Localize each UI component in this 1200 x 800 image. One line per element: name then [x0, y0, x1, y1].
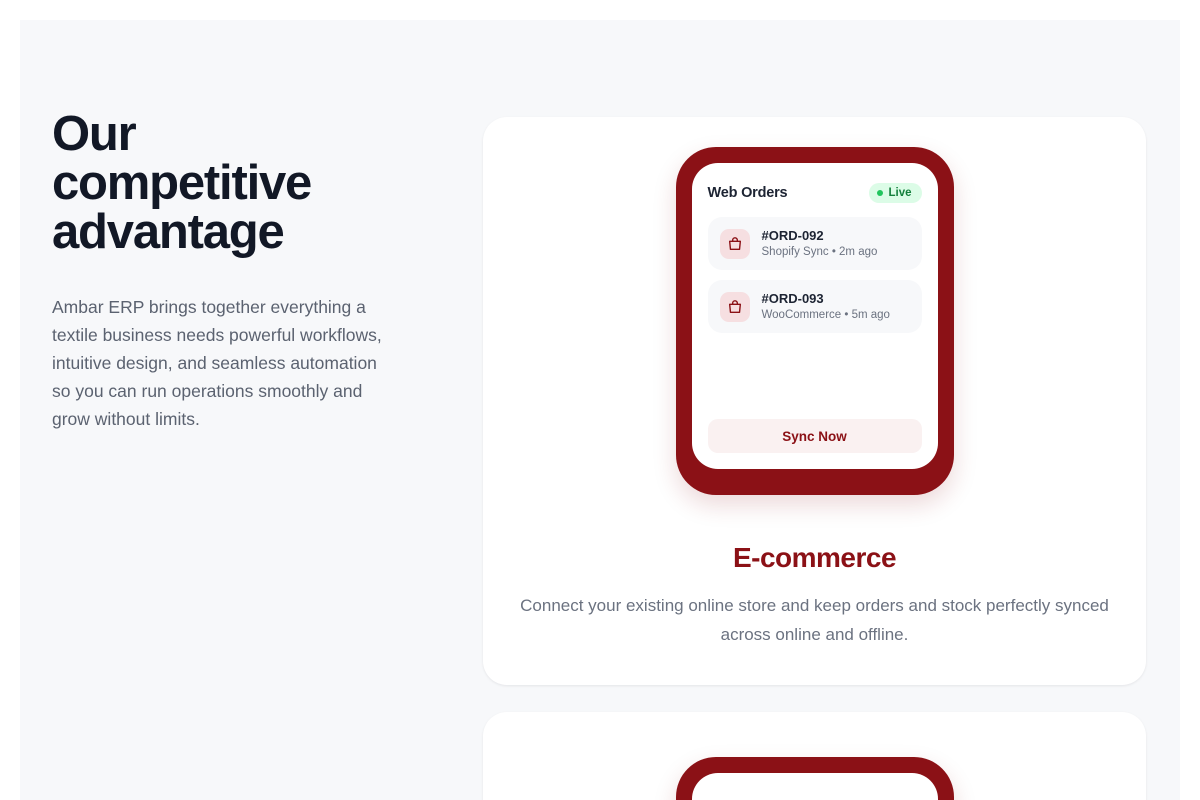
list-item[interactable]: #ORD-093 WooCommerce • 5m ago [708, 280, 922, 333]
order-meta: WooCommerce • 5m ago [762, 307, 890, 323]
feature-card-ecommerce[interactable]: Web Orders Live [483, 117, 1146, 685]
intro-paragraph: Ambar ERP brings together everything a t… [52, 293, 392, 433]
order-meta: Shopify Sync • 2m ago [762, 244, 878, 260]
status-dot-icon [877, 190, 883, 196]
page-canvas: Our competitive advantage Ambar ERP brin… [20, 20, 1180, 800]
feature-card-list: Web Orders Live [483, 117, 1146, 800]
status-badge-label: Live [888, 187, 911, 199]
status-badge: Live [869, 183, 921, 203]
intro-section: Our competitive advantage Ambar ERP brin… [52, 110, 432, 433]
phone-screen-web-orders: Web Orders Live [692, 163, 938, 469]
list-item[interactable]: #ORD-092 Shopify Sync • 2m ago [708, 217, 922, 270]
order-list: #ORD-092 Shopify Sync • 2m ago [708, 217, 922, 343]
phone-mockup-ecommerce: Web Orders Live [676, 147, 954, 495]
screen-title: Web Orders [708, 185, 788, 201]
phone-mockup-dashboard: Welcome back, [676, 757, 954, 800]
shopping-bag-icon [720, 292, 750, 322]
page-title: Our competitive advantage [52, 110, 382, 257]
phone-screen-dashboard: Welcome back, [692, 773, 938, 800]
sync-now-button[interactable]: Sync Now [708, 419, 922, 453]
screen-header: Web Orders Live [708, 181, 922, 205]
order-id: #ORD-093 [762, 290, 890, 307]
feature-card-dashboard[interactable]: Welcome back, [483, 712, 1146, 800]
order-id: #ORD-092 [762, 227, 878, 244]
shopping-bag-icon [720, 229, 750, 259]
feature-caption: E-commerce Connect your existing online … [519, 542, 1110, 649]
feature-description: Connect your existing online store and k… [519, 591, 1110, 649]
feature-name: E-commerce [519, 542, 1110, 574]
